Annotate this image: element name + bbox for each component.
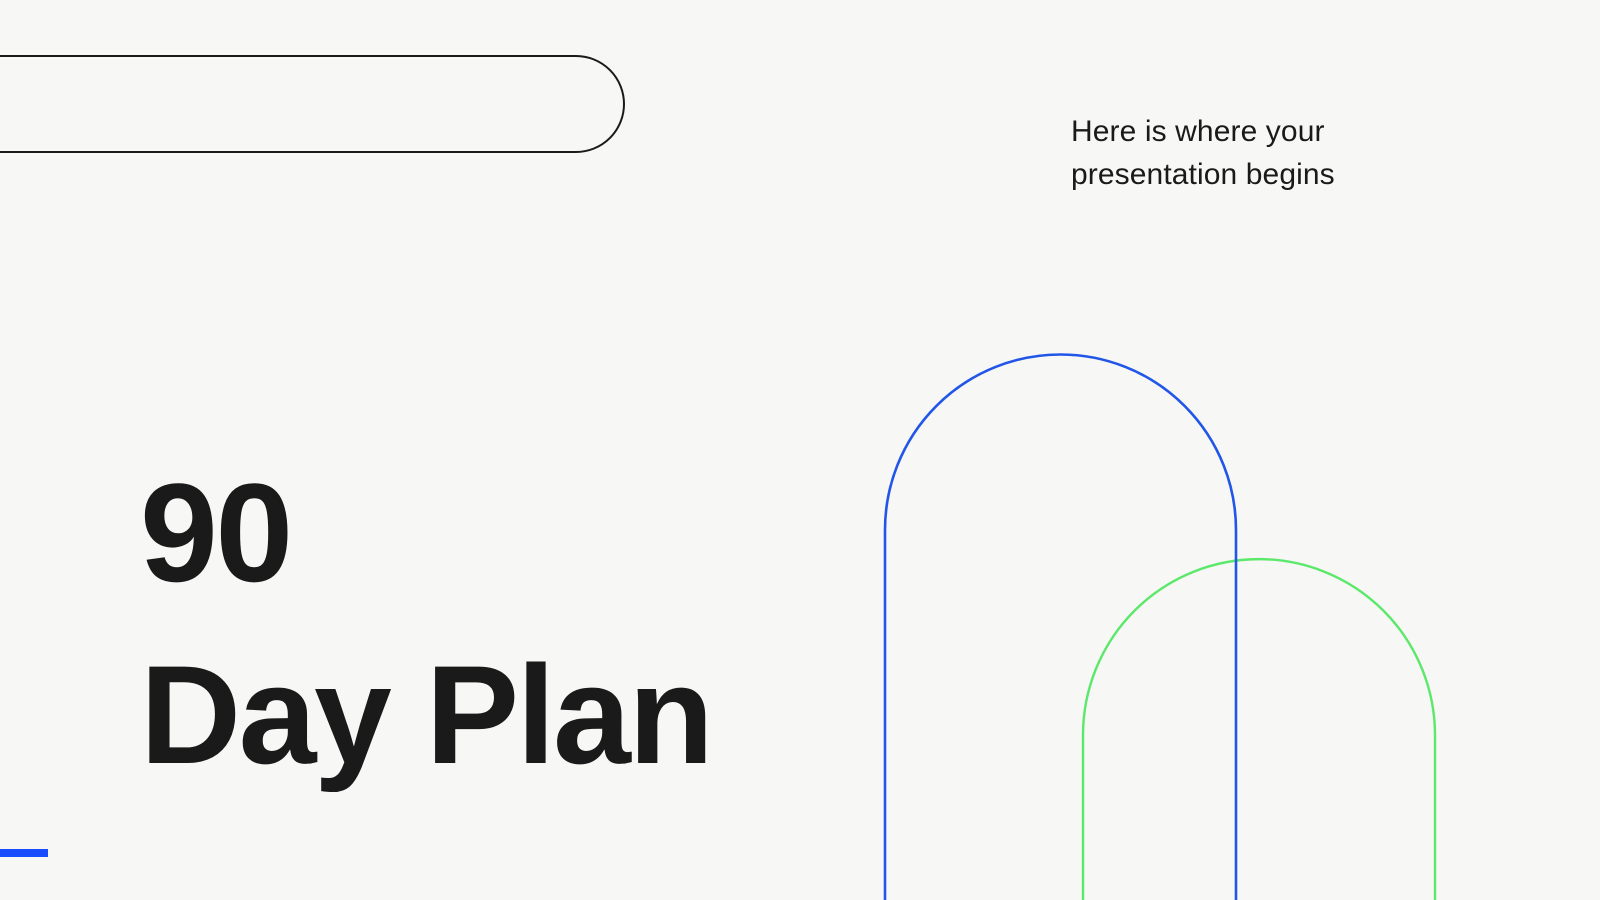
page-title-line-1: 90: [140, 442, 711, 624]
page-title: 90 Day Plan: [140, 442, 711, 806]
subtitle-line-1: Here is where your: [1071, 110, 1431, 153]
page-title-line-2: Day Plan: [140, 624, 711, 806]
blue-accent-dash: [0, 849, 48, 857]
green-arch-icon: [1083, 559, 1435, 900]
subtitle-line-2: presentation begins: [1071, 153, 1431, 196]
blue-arch-icon: [885, 355, 1236, 900]
pill-outline-shape: [0, 55, 625, 153]
slide-canvas: 90 Day Plan Here is where your presentat…: [0, 0, 1600, 900]
subtitle: Here is where your presentation begins: [1071, 110, 1431, 196]
